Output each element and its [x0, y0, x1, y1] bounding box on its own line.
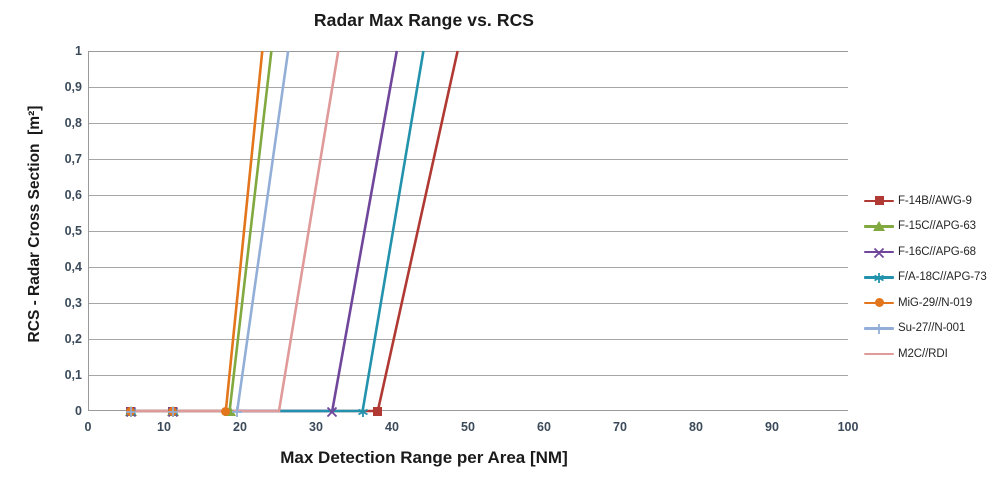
y-tick-label: 0,4 — [42, 260, 82, 274]
legend: F-14B//AWG-9F-15C//APG-63F-16C//APG-68F/… — [864, 188, 996, 367]
legend-label: F-16C//APG-68 — [898, 246, 976, 258]
x-tick-label: 0 — [58, 420, 118, 434]
chart-title: Radar Max Range vs. RCS — [0, 10, 848, 31]
legend-swatch-icon — [864, 296, 894, 310]
legend-item-5[interactable]: Su-27//N-001 — [864, 316, 996, 342]
y-tick-label: 1 — [42, 44, 82, 58]
legend-item-0[interactable]: F-14B//AWG-9 — [864, 188, 996, 214]
x-tick-label: 100 — [818, 420, 878, 434]
x-tick-label: 80 — [666, 420, 726, 434]
legend-marker-icon — [875, 196, 884, 205]
plot-area — [88, 51, 848, 411]
x-tick-label: 10 — [134, 420, 194, 434]
y-tick-label: 0,6 — [42, 188, 82, 202]
legend-label: F-15C//APG-63 — [898, 220, 976, 232]
data-point-marker — [357, 405, 369, 417]
y-tick-label: 0,7 — [42, 152, 82, 166]
y-tick-label: 0,1 — [42, 368, 82, 382]
legend-item-2[interactable]: F-16C//APG-68 — [864, 239, 996, 265]
data-point-marker — [167, 405, 179, 417]
chart-container: Radar Max Range vs. RCS RCS - Radar Cros… — [0, 0, 1000, 504]
data-point-marker — [326, 405, 338, 417]
legend-item-3[interactable]: F/A-18C//APG-73 — [864, 265, 996, 291]
y-tick-label: 0,9 — [42, 80, 82, 94]
data-point-marker — [231, 405, 243, 417]
legend-label: F/A-18C//APG-73 — [898, 271, 987, 283]
x-tick-label: 90 — [742, 420, 802, 434]
legend-label: M2C//RDI — [898, 348, 948, 360]
legend-swatch-icon — [864, 194, 894, 208]
legend-swatch-icon — [864, 245, 894, 259]
x-tick-label: 20 — [210, 420, 270, 434]
legend-swatch-icon — [864, 321, 894, 335]
legend-item-4[interactable]: MiG-29//N-019 — [864, 290, 996, 316]
legend-label: Su-27//N-001 — [898, 322, 965, 334]
legend-swatch-icon — [864, 219, 894, 233]
x-tick-label: 40 — [362, 420, 422, 434]
x-tick-label: 50 — [438, 420, 498, 434]
y-tick-label: 0 — [42, 404, 82, 418]
y-tick-label: 0,8 — [42, 116, 82, 130]
series-lines — [89, 51, 849, 411]
series-line — [131, 51, 338, 411]
legend-marker-icon — [873, 322, 885, 334]
legend-marker-icon — [873, 271, 885, 283]
series-line — [131, 51, 272, 411]
x-tick-label: 30 — [286, 420, 346, 434]
legend-item-6[interactable]: M2C//RDI — [864, 341, 996, 367]
series-line — [131, 51, 424, 411]
y-tick-label: 0,3 — [42, 296, 82, 310]
x-axis-title: Max Detection Range per Area [NM] — [0, 448, 848, 468]
y-axis-tick-labels: 00,10,20,30,40,50,60,70,80,91 — [40, 51, 82, 411]
legend-label: F-14B//AWG-9 — [898, 195, 972, 207]
x-tick-label: 60 — [514, 420, 574, 434]
series-line — [131, 51, 262, 411]
legend-item-1[interactable]: F-15C//APG-63 — [864, 214, 996, 240]
series-line — [131, 51, 458, 411]
legend-label: MiG-29//N-019 — [898, 297, 972, 309]
legend-swatch-icon — [864, 347, 894, 361]
y-tick-label: 0,5 — [42, 224, 82, 238]
legend-marker-icon — [873, 246, 885, 258]
data-point-marker — [373, 407, 382, 416]
legend-marker-icon — [873, 221, 885, 231]
x-axis-tick-labels: 0102030405060708090100 — [88, 420, 848, 440]
data-point-marker — [221, 407, 230, 416]
x-tick-label: 70 — [590, 420, 650, 434]
legend-swatch-icon — [864, 270, 894, 284]
legend-marker-icon — [875, 298, 884, 307]
y-tick-label: 0,2 — [42, 332, 82, 346]
data-point-marker — [125, 405, 137, 417]
